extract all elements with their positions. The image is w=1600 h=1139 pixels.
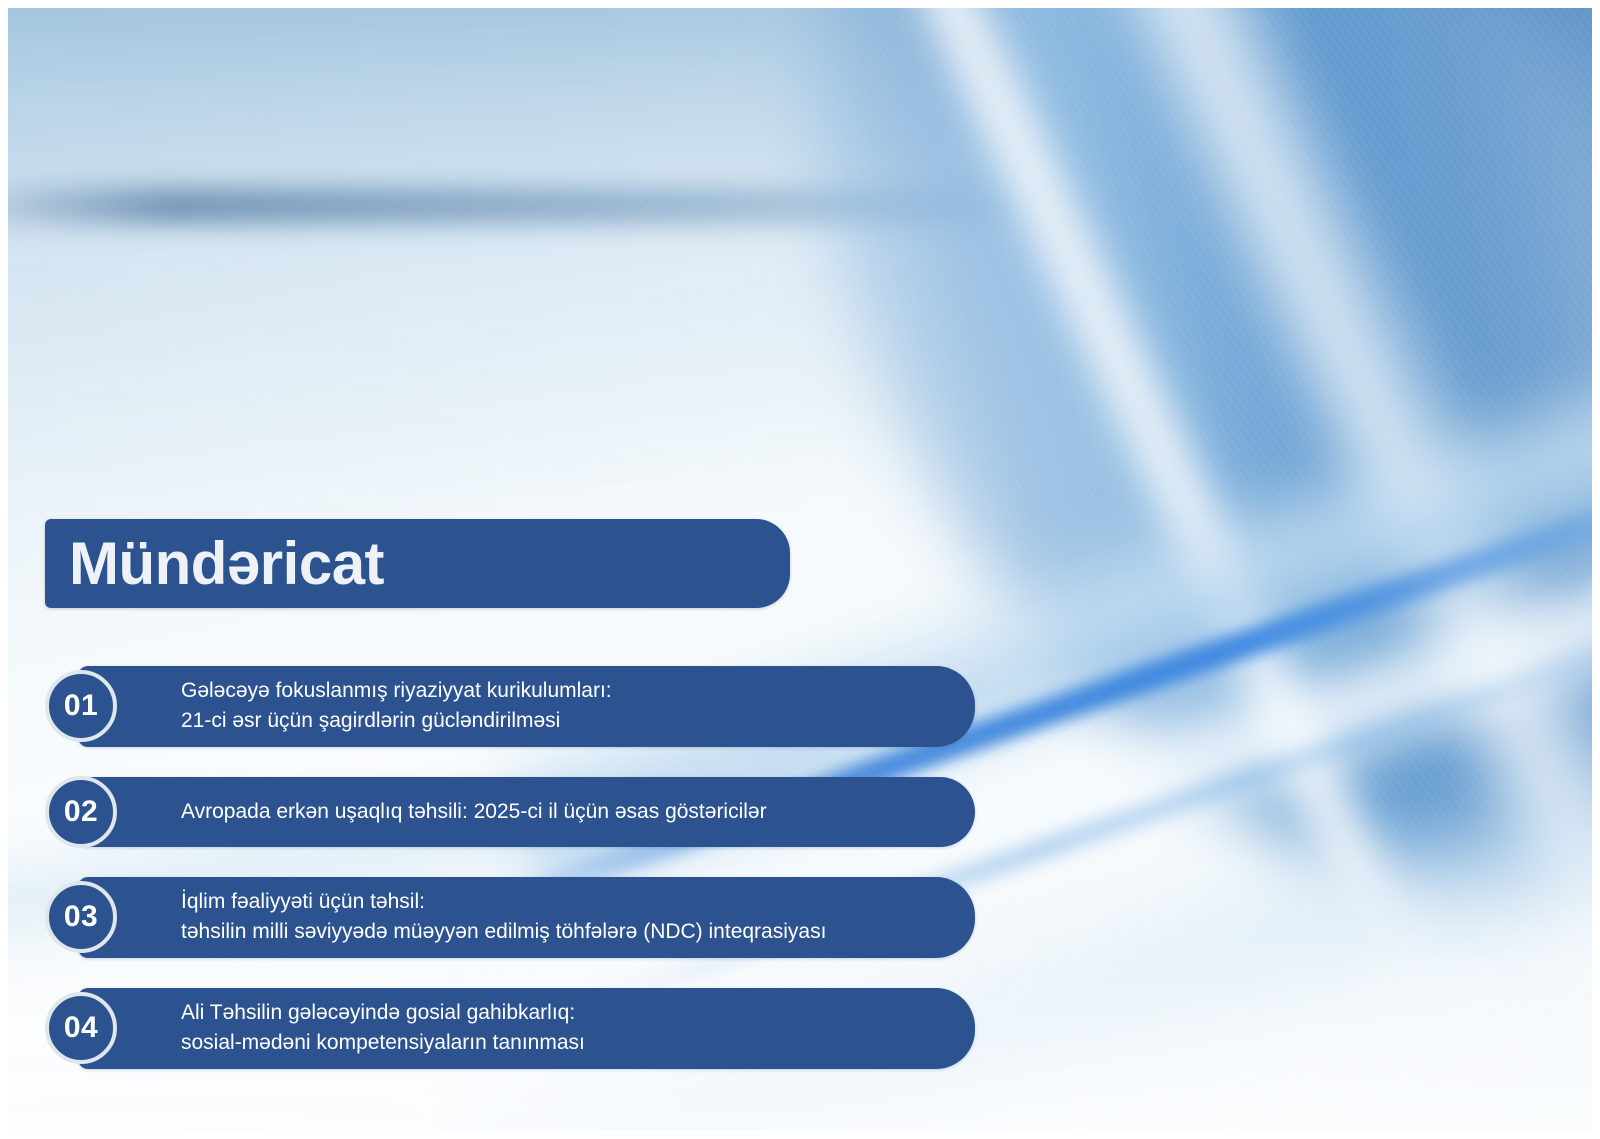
presentation-slide: Mündəricat Gələcəyə fokuslanmış riyaziyy… [0,0,1600,1139]
list-item[interactable]: Avropada erkən uşaqlıq təhsili: 2025-ci … [45,777,975,847]
toc-number-01: 01 [64,691,98,721]
toc-number-02: 02 [64,797,98,827]
toc-entry-label-02: Avropada erkən uşaqlıq təhsili: 2025-ci … [78,787,801,837]
toc-entry-label-01: Gələcəyə fokuslanmış riyaziyyat kurikulu… [78,666,646,747]
table-of-contents-list: Gələcəyə fokuslanmış riyaziyyat kurikulu… [45,666,975,1099]
toc-number-badge-01: 01 [45,670,117,742]
toc-entry-label-04: Ali Təhsilin gələcəyində gosial gahibkar… [78,988,619,1069]
toc-entry-bar-01[interactable]: Gələcəyə fokuslanmış riyaziyyat kurikulu… [78,666,975,747]
toc-number-badge-03: 03 [45,881,117,953]
toc-number-badge-04: 04 [45,992,117,1064]
list-item[interactable]: Ali Təhsilin gələcəyində gosial gahibkar… [45,988,975,1069]
toc-entry-label-03: İqlim fəaliyyəti üçün təhsil: təhsilin m… [78,877,860,958]
toc-number-badge-02: 02 [45,776,117,848]
toc-entry-bar-03[interactable]: İqlim fəaliyyəti üçün təhsil: təhsilin m… [78,877,975,958]
toc-number-03: 03 [64,902,98,932]
toc-number-04: 04 [64,1013,98,1043]
slide-title-bar: Mündəricat [45,519,790,608]
toc-entry-bar-04[interactable]: Ali Təhsilin gələcəyində gosial gahibkar… [78,988,975,1069]
list-item[interactable]: Gələcəyə fokuslanmış riyaziyyat kurikulu… [45,666,975,747]
list-item[interactable]: İqlim fəaliyyəti üçün təhsil: təhsilin m… [45,877,975,958]
page-title: Mündəricat [45,534,384,594]
toc-entry-bar-02[interactable]: Avropada erkən uşaqlıq təhsili: 2025-ci … [78,777,975,847]
